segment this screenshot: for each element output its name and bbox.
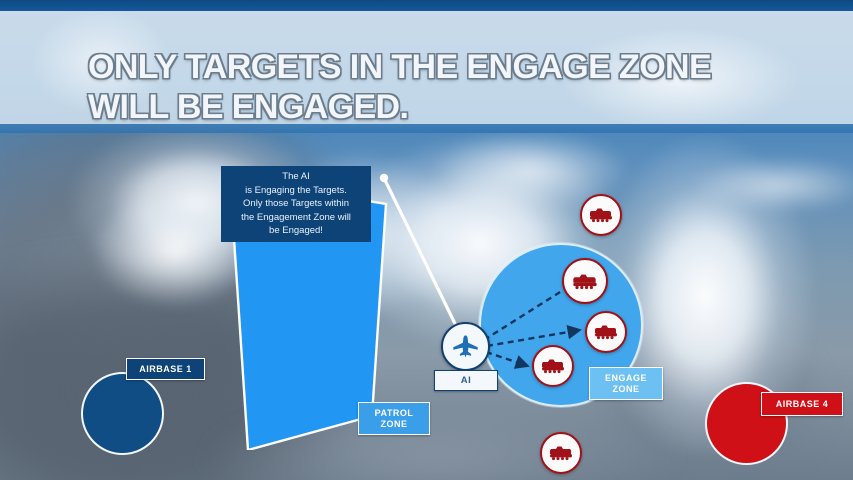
page-title: ONLY TARGETS IN THE ENGAGE ZONE WILL BE … (88, 47, 788, 128)
callout-line-1: The AI (282, 171, 309, 182)
airbase-1-marker[interactable] (81, 372, 164, 455)
airbase-1-label-text: AIRBASE 1 (139, 364, 192, 375)
patrol-zone-label[interactable]: PATROL ZONE (358, 402, 430, 435)
engage-zone-label-line1: ENGAGE (605, 373, 647, 383)
slide-canvas: The AI is Engaging the Targets. Only tho… (0, 0, 853, 480)
page-title-line-2: WILL BE ENGAGED. (88, 87, 788, 127)
target-marker-2[interactable] (562, 258, 608, 304)
target-marker-1[interactable] (580, 194, 622, 236)
fighter-jet-icon (451, 334, 481, 360)
ai-callout-box: The AI is Engaging the Targets. Only tho… (221, 166, 371, 242)
ai-unit-label[interactable]: AI (434, 370, 498, 391)
tank-icon (571, 273, 599, 290)
engage-zone-label-line2: ZONE (612, 384, 639, 394)
callout-text: The AI is Engaging the Targets. Only tho… (235, 170, 357, 237)
airbase-1-label[interactable]: AIRBASE 1 (126, 358, 205, 380)
target-marker-3[interactable] (585, 311, 627, 353)
tank-icon (548, 445, 574, 461)
callout-line-3: Only those Targets within (243, 198, 349, 209)
engage-zone-label[interactable]: ENGAGE ZONE (589, 367, 663, 400)
callout-line-2: is Engaging the Targets. (245, 185, 347, 196)
airbase-4-label-text: AIRBASE 4 (776, 399, 829, 410)
patrol-zone-label-line1: PATROL (375, 408, 414, 418)
page-title-line-1: ONLY TARGETS IN THE ENGAGE ZONE (88, 47, 788, 87)
tank-icon (540, 358, 566, 374)
callout-line-5: be Engaged! (269, 225, 323, 236)
target-marker-4[interactable] (532, 345, 574, 387)
tank-icon (593, 324, 619, 340)
target-marker-5[interactable] (540, 432, 582, 474)
ai-aircraft-marker[interactable] (441, 322, 490, 371)
header-top-accent-strip (0, 0, 853, 11)
callout-line-4: the Engagement Zone will (241, 212, 351, 223)
ai-unit-label-text: AI (461, 375, 472, 386)
airbase-4-label[interactable]: AIRBASE 4 (761, 392, 843, 416)
cloud-right-wisp (690, 150, 853, 220)
tank-icon (588, 207, 614, 223)
patrol-zone-label-line2: ZONE (380, 419, 407, 429)
